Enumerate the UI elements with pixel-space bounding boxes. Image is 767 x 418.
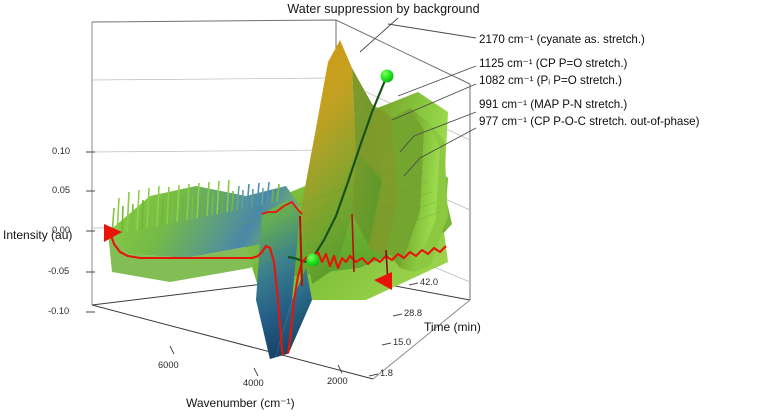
x-axis-label: Wavenumber (cm⁻¹): [186, 396, 295, 410]
y-tick-label-4: -0.10: [48, 306, 69, 316]
page-title: Water suppression by background: [0, 2, 767, 16]
ztick-288: [393, 314, 402, 316]
y-tick-label-0: 0.10: [52, 146, 70, 156]
annotation-991: 991 cm⁻¹ (MAP P-N stretch.): [479, 96, 767, 113]
marker-green-top[interactable]: [381, 70, 394, 83]
surface-trough-2170: [256, 200, 300, 368]
xtick-4000: [254, 368, 258, 376]
annotation-2170: 2170 cm⁻¹ (cyanate as. stretch.): [479, 31, 767, 48]
leader-2170: [388, 24, 476, 38]
z-tick-label-42: 42.0: [420, 277, 438, 287]
z-tick-label-288: 28.8: [404, 308, 422, 318]
ztick-150: [382, 343, 391, 345]
annotation-1082: 1082 cm⁻¹ (Pᵢ P=O stretch.): [479, 72, 767, 89]
xtick-6000: [170, 346, 174, 354]
annotation-977: 977 cm⁻¹ (CP P-O-C stretch. out-of-phase…: [479, 113, 767, 130]
x-tick-label-6000: 6000: [158, 360, 179, 370]
x-tick-label-2000: 2000: [327, 376, 348, 386]
surface-mesh: [108, 40, 452, 368]
x-tick-label-4000: 4000: [243, 378, 264, 388]
z-tick-label-150: 15.0: [393, 337, 411, 347]
z-tick-label-18: 1.8: [380, 368, 393, 378]
annotation-1125: 1125 cm⁻¹ (CP P=O stretch.): [479, 55, 767, 72]
xtick-2000: [338, 365, 342, 373]
ztick-42: [409, 283, 418, 285]
y-tick-label-3: -0.05: [48, 266, 69, 276]
marker-green-mid[interactable]: [307, 254, 320, 267]
z-axis-label: Time (min): [424, 320, 481, 334]
annotation-list: 2170 cm⁻¹ (cyanate as. stretch.) 1125 cm…: [479, 31, 767, 130]
y-tick-label-2: 0.00: [52, 225, 70, 235]
y-tick-label-1: 0.05: [52, 185, 70, 195]
